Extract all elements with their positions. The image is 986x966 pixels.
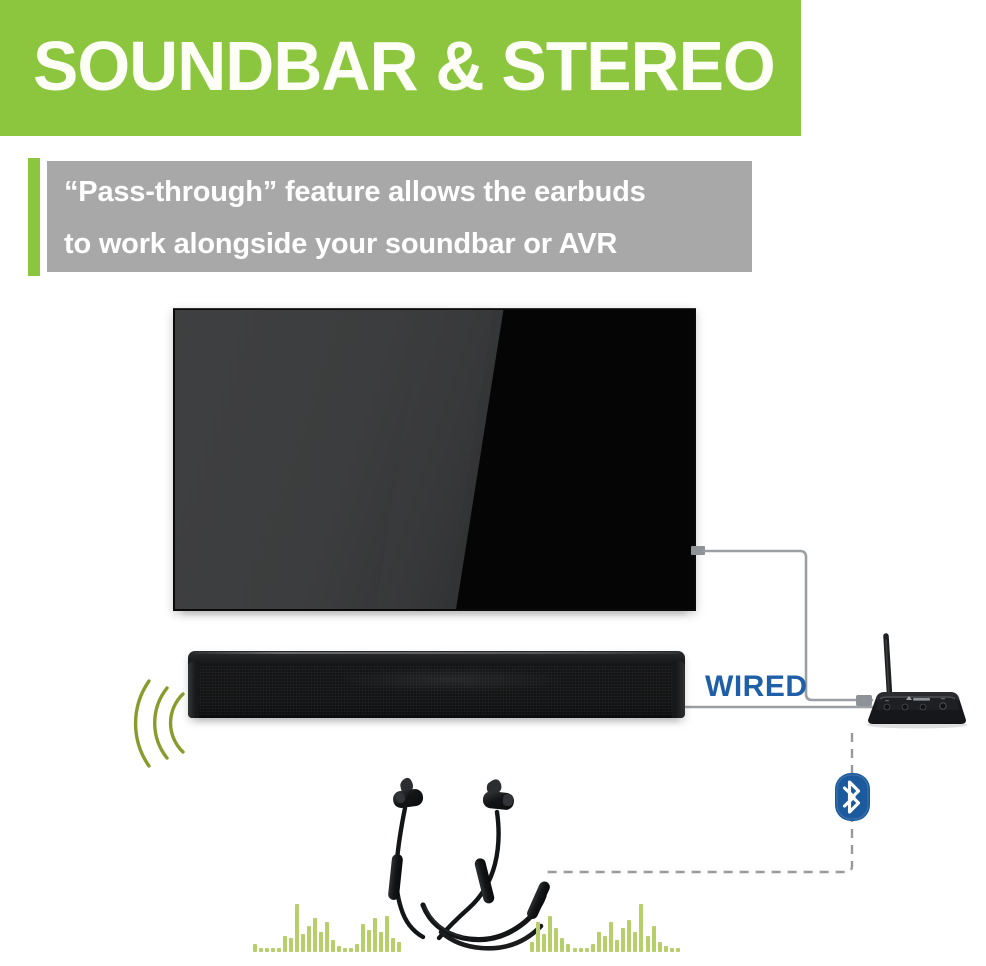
waveform-bar [560,938,564,952]
wired-label: WIRED [705,670,808,704]
subtitle-accent-bar [28,158,40,276]
earbud-left [392,778,424,809]
waveform-bar [639,904,643,952]
waveform-bar [585,948,589,952]
waveform-bar [319,932,323,952]
waveform-bar [289,938,293,952]
page-title: SOUNDBAR & STEREO [33,14,770,118]
waveform-bar [530,942,534,952]
soundbar-device [188,651,685,718]
infographic-page: SOUNDBAR & STEREO “Pass-through” feature… [0,0,986,966]
waveform-bar [591,944,595,952]
waveform-bar [658,942,662,952]
waveform-bar [277,948,281,952]
waveform-bar [367,930,371,952]
soundbar-sheen [337,667,566,693]
waveform-bar [343,948,347,952]
waveform-bar [609,922,613,952]
waveform-bar [259,948,263,952]
waveform-bar [566,944,570,952]
waveform-bar [337,946,341,952]
tv-audio-port [691,546,705,555]
waveform-bar [391,938,395,952]
waveform-bar [670,948,674,952]
soundbar-top-highlight [194,652,679,654]
waveform-bar [548,916,552,952]
waveform-bar [554,928,558,952]
waveform-bar [664,946,668,952]
waveform-bar [331,940,335,952]
waveform-bar [355,944,359,952]
waveform-bar [633,932,637,952]
waveform-bar [307,926,311,952]
waveform-bar [379,932,383,952]
soundbar-right-edge [672,661,685,718]
waveform-bar [325,922,329,952]
waveform-bar [652,926,656,952]
waveform-bar [313,918,317,952]
tv-screen [175,310,694,609]
subtitle-line-1: “Pass-through” feature allows the earbud… [64,166,744,218]
waveform-bar [253,944,257,952]
waveform-bar [265,948,269,952]
waveform-bar [627,920,631,952]
tv-device [173,308,696,611]
waveform-bar [646,936,650,952]
earbud-right [482,779,515,810]
waveform-bar [385,916,389,952]
subtitle-line-2: to work alongside your soundbar or AVR [64,218,744,270]
waveform-bar [397,942,401,952]
subtitle-text: “Pass-through” feature allows the earbud… [64,166,744,270]
waveform-bar [621,928,625,952]
waveform-bar [373,918,377,952]
bluetooth-icon [834,772,871,822]
soundbar-left-edge [188,661,199,718]
waveform-bar [349,948,353,952]
waveform-bar [271,948,275,952]
waveform-bar [615,940,619,952]
waveform-bar [283,936,287,952]
waveform-bar [573,948,577,952]
waveform-bar [676,948,680,952]
tv-shadow [183,610,686,617]
waveform-bar [597,932,601,952]
waveform-left [253,896,403,952]
tv-bezel-highlight [173,308,696,309]
waveform-bar [579,948,583,952]
waveform-bar [542,934,546,952]
waveform-bar [361,924,365,952]
waveform-bar [536,922,540,952]
waveform-bar [603,936,607,952]
waveform-right [530,896,682,952]
waveform-bar [295,904,299,952]
transmitter-device [858,620,968,730]
waveform-bar [301,934,305,952]
